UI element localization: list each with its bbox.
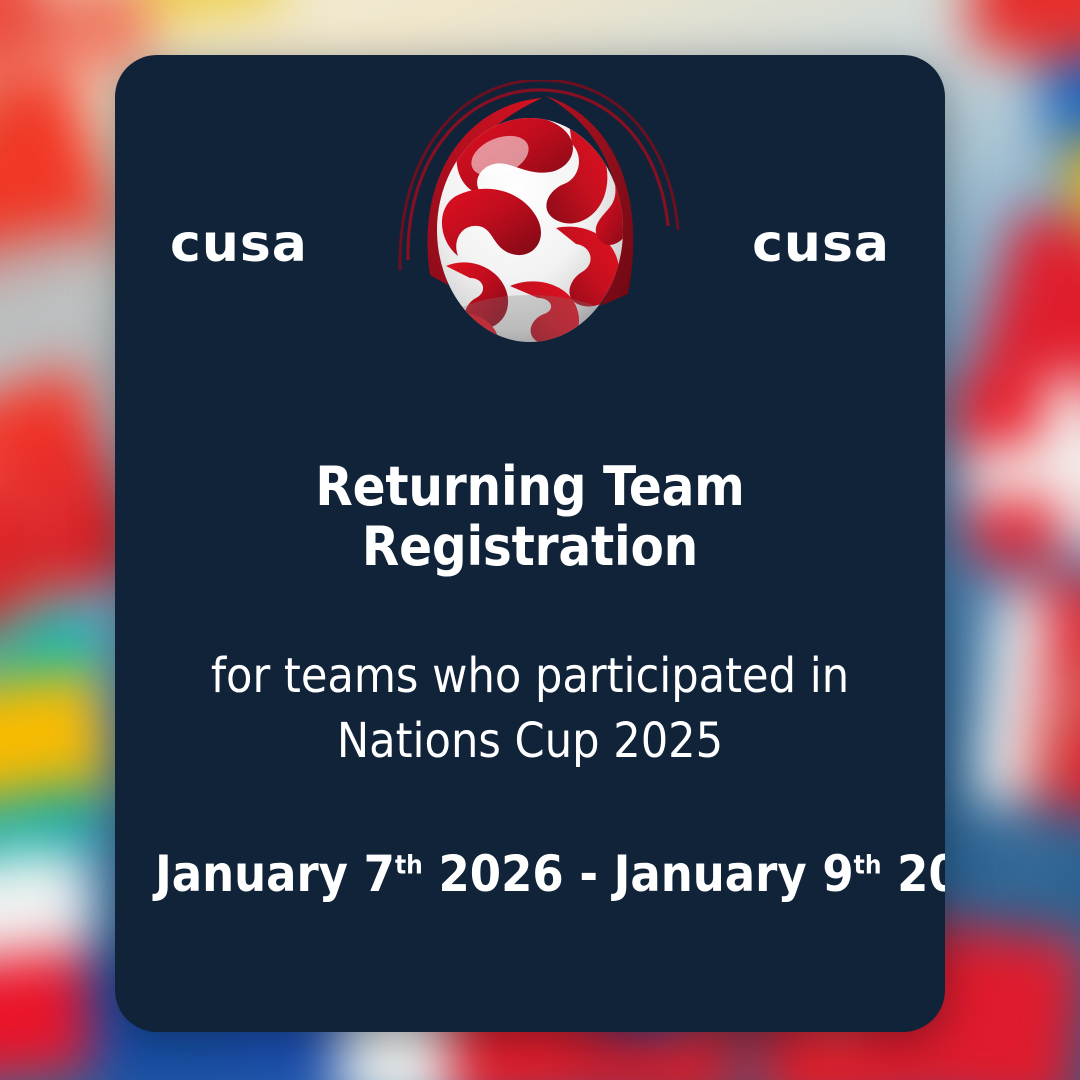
announcement-card: cusa cusa — [115, 55, 945, 1032]
subtitle-line-1: for teams who participated in — [211, 648, 849, 704]
brand-wordmark-right-text: cusa — [752, 218, 890, 270]
page-title: Returning Team Registration — [155, 415, 905, 578]
end-date-suffix: th — [854, 850, 882, 880]
start-date-suffix: th — [395, 850, 423, 880]
soccer-ball-icon — [360, 80, 700, 350]
card-body: Returning Team Registration for teams wh… — [155, 415, 905, 903]
start-date-year: 2026 — [438, 845, 563, 903]
brand-wordmark-left: cusa — [170, 218, 308, 270]
bg-bokeh — [0, 820, 40, 860]
end-date-year: 2026 — [897, 845, 945, 903]
start-date-day: 7 — [364, 845, 395, 903]
card-header: cusa cusa — [115, 55, 945, 355]
start-date-month: January — [155, 845, 348, 903]
date-range: January 7th 2026 - January 9th 2026 — [155, 774, 905, 904]
date-range-separator: - — [579, 845, 598, 903]
brand-wordmark-left-text: cusa — [170, 218, 308, 270]
poster-root: cusa cusa — [0, 0, 1080, 1080]
end-date-month: January — [614, 845, 807, 903]
brand-wordmark-right: cusa — [752, 218, 890, 270]
bg-star-speck — [35, 500, 55, 520]
end-date-day: 9 — [822, 845, 853, 903]
subtitle-line-2: Nations Cup 2025 — [337, 713, 723, 769]
subtitle: for teams who participated in Nations Cu… — [180, 578, 880, 774]
bg-bokeh — [1011, 845, 1045, 879]
bg-bokeh — [1057, 940, 1080, 968]
